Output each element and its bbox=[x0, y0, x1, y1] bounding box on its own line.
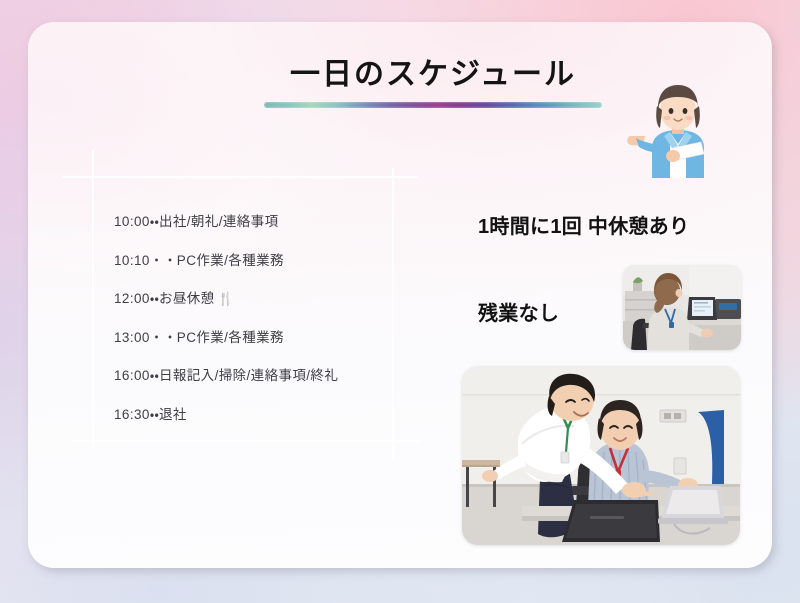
page-title: 一日のスケジュール bbox=[233, 58, 633, 91]
schedule-list: 10:00・・出社/朝礼/連絡事項 10:10・・PC作業/各種業務 12:00… bbox=[114, 215, 434, 421]
schedule-item-separator: ・・ bbox=[150, 214, 159, 229]
schedule-item: 16:30・・退社 bbox=[114, 408, 434, 422]
schedule-item: 13:00・・PC作業/各種業務 bbox=[114, 331, 434, 345]
slide-card: 一日のスケジュール bbox=[28, 22, 772, 568]
presenting-woman-illustration bbox=[626, 74, 730, 178]
schedule-item-separator: ・・ bbox=[150, 330, 177, 345]
schedule-item-separator: ・・ bbox=[150, 407, 159, 422]
highlight-overtime-text: 残業なし bbox=[478, 297, 559, 326]
schedule-item-separator: ・・ bbox=[150, 253, 177, 268]
slide-canvas: 一日のスケジュール bbox=[0, 0, 800, 603]
title-block: 一日のスケジュール bbox=[233, 58, 633, 108]
schedule-item-task: PC作業/各種業務 bbox=[177, 330, 284, 345]
schedule-item: 16:00・・日報記入/掃除/連絡事項/終礼 bbox=[114, 369, 434, 383]
photo-woman-at-desk bbox=[623, 265, 741, 350]
title-underline-rule bbox=[264, 102, 602, 108]
highlight-break-text: 1時間に1回 中休憩あり bbox=[478, 210, 689, 239]
schedule-item: 10:00・・出社/朝礼/連絡事項 bbox=[114, 215, 434, 229]
schedule-item-task: 出社/朝礼/連絡事項 bbox=[159, 214, 279, 229]
frame-line-top bbox=[62, 176, 418, 178]
schedule-item-task: PC作業/各種業務 bbox=[177, 253, 284, 268]
frame-line-left bbox=[92, 150, 94, 448]
schedule-item-task: お昼休憩 bbox=[159, 291, 215, 306]
schedule-item-task: 日報記入/掃除/連絡事項/終礼 bbox=[159, 368, 338, 383]
schedule-item-separator: ・・ bbox=[150, 291, 159, 306]
frame-line-bottom bbox=[72, 440, 422, 442]
schedule-item: 12:00・・お昼休憩🍴 bbox=[114, 292, 434, 306]
schedule-item-time: 10:00 bbox=[114, 214, 150, 229]
schedule-item-time: 13:00 bbox=[114, 330, 150, 345]
schedule-item-time: 16:30 bbox=[114, 407, 150, 422]
schedule-item-task: 退社 bbox=[159, 407, 187, 422]
schedule-item: 10:10・・PC作業/各種業務 bbox=[114, 254, 434, 268]
schedule-item-time: 16:00 bbox=[114, 368, 150, 383]
photo-training-session bbox=[462, 366, 740, 545]
schedule-item-separator: ・・ bbox=[150, 368, 159, 383]
cutlery-icon: 🍴 bbox=[218, 291, 235, 306]
schedule-item-time: 10:10 bbox=[114, 253, 150, 268]
schedule-item-time: 12:00 bbox=[114, 291, 150, 306]
